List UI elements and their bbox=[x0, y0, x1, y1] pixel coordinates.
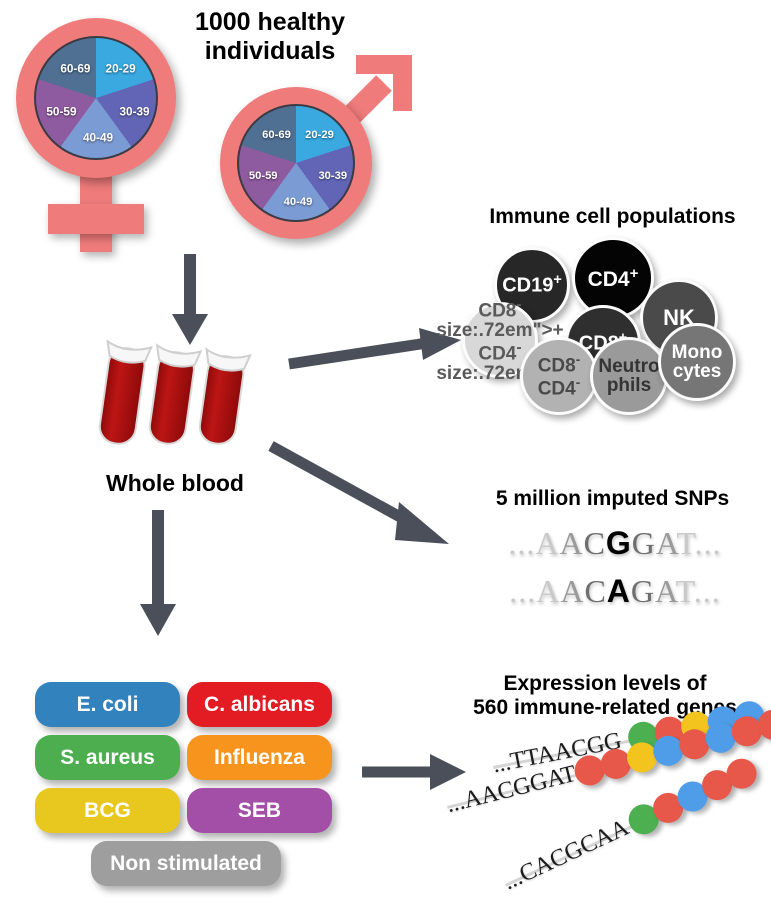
age-slice-label: 40-49 bbox=[284, 196, 313, 208]
stimulus-label: C. albicans bbox=[204, 693, 315, 717]
snp-base: C bbox=[584, 573, 606, 609]
age-slice-label: 40-49 bbox=[83, 132, 113, 145]
arrow-blood-to-stimuli bbox=[128, 508, 188, 638]
snp-base: A bbox=[656, 525, 677, 561]
female-gender-symbol: 20-2930-3940-4950-5960-69 bbox=[8, 14, 198, 254]
arrow-blood-to-snp bbox=[267, 440, 457, 550]
age-pie-female: 20-2930-3940-4950-5960-69 bbox=[34, 36, 158, 160]
immune-cell-label: Monocytes bbox=[672, 343, 723, 382]
stimulus-saureus[interactable]: S. aureus bbox=[35, 735, 180, 780]
snp-sequence-top: ...AACGGAT... bbox=[465, 525, 765, 562]
stimulus-label: Non stimulated bbox=[110, 852, 262, 876]
snp-variant-base: G bbox=[606, 525, 632, 561]
snp-base: ... bbox=[508, 525, 535, 561]
age-slice-label: 30-39 bbox=[120, 105, 150, 118]
section-title-immune: Immune cell populations bbox=[455, 205, 770, 229]
snp-sequences: ...AACGGAT... ...AACAGAT... bbox=[465, 525, 765, 620]
snp-base: ... bbox=[509, 573, 536, 609]
immune-cell-label: CD8-CD4- bbox=[538, 353, 581, 398]
age-slice-label: 60-69 bbox=[262, 129, 291, 141]
male-gender-symbol: 20-2930-3940-4950-5960-69 bbox=[210, 55, 410, 245]
snp-base: G bbox=[631, 573, 655, 609]
snp-base: ... bbox=[695, 525, 722, 561]
immune-cell-label: CD4+ bbox=[588, 266, 639, 290]
immune-cell-label: Neutrophils bbox=[598, 357, 659, 396]
snp-variant-base: A bbox=[607, 573, 631, 609]
snp-sequence-bottom: ...AACAGAT... bbox=[465, 573, 765, 610]
stimuli-grid: E. coliC. albicansS. aureusInfluenzaBCGS… bbox=[35, 682, 335, 887]
snp-base: A bbox=[560, 573, 584, 609]
stimulus-label: S. aureus bbox=[60, 746, 155, 770]
stimulus-influenza[interactable]: Influenza bbox=[187, 735, 332, 780]
expression-strands: ...TTAACGG...AACGGAT...CACGCAA bbox=[455, 715, 771, 915]
stimulus-ecoli[interactable]: E. coli bbox=[35, 682, 180, 727]
snp-base: G bbox=[632, 525, 656, 561]
strand-sequence: ...CACGCAA bbox=[499, 815, 633, 897]
stimulus-calbicans[interactable]: C. albicans bbox=[187, 682, 332, 727]
whole-blood-label: Whole blood bbox=[60, 470, 290, 497]
stimulus-label: E. coli bbox=[77, 693, 139, 717]
blood-tubes-icon bbox=[95, 330, 255, 460]
stimulus-bcg[interactable]: BCG bbox=[35, 788, 180, 833]
immune-cell-monocytes: Monocytes bbox=[658, 323, 736, 401]
age-slice-label: 20-29 bbox=[106, 62, 136, 75]
snp-base: A bbox=[536, 573, 560, 609]
immune-cell-label: CD19+ bbox=[502, 273, 562, 296]
age-pie-male: 20-2930-3940-4950-5960-69 bbox=[237, 104, 355, 222]
snp-base: T bbox=[676, 573, 694, 609]
age-slice-label: 30-39 bbox=[318, 170, 347, 182]
snp-base: ... bbox=[694, 573, 721, 609]
age-slice-label: 20-29 bbox=[305, 129, 334, 141]
stimulus-seb[interactable]: SEB bbox=[187, 788, 332, 833]
blood-tubes-group bbox=[95, 330, 255, 460]
stimulus-label: SEB bbox=[238, 799, 281, 823]
immune-cell-neutrophils: Neutrophils bbox=[590, 337, 668, 415]
snp-base: A bbox=[655, 573, 676, 609]
section-title-snp: 5 million imputed SNPs bbox=[455, 487, 770, 511]
snp-base: A bbox=[535, 525, 559, 561]
stimulus-nonstimulated[interactable]: Non stimulated bbox=[91, 841, 281, 886]
figure-canvas: 1000 healthy individuals Immune cell pop… bbox=[0, 0, 771, 922]
age-slice-label: 50-59 bbox=[249, 170, 278, 182]
female-stem-horizontal bbox=[48, 204, 144, 234]
snp-base: A bbox=[559, 525, 583, 561]
snp-base: C bbox=[584, 525, 606, 561]
age-slice-label: 60-69 bbox=[60, 62, 90, 75]
stimulus-label: BCG bbox=[84, 799, 131, 823]
immune-cell-cluster: CD19+CD4+NKCD8+CD8-size:.72em">+CD4-size… bbox=[462, 237, 752, 412]
stimulus-label: Influenza bbox=[214, 746, 305, 770]
age-slice-label: 50-59 bbox=[46, 105, 76, 118]
snp-base: T bbox=[676, 525, 694, 561]
immune-cell-cd8cd4: CD8-CD4- bbox=[520, 337, 598, 415]
